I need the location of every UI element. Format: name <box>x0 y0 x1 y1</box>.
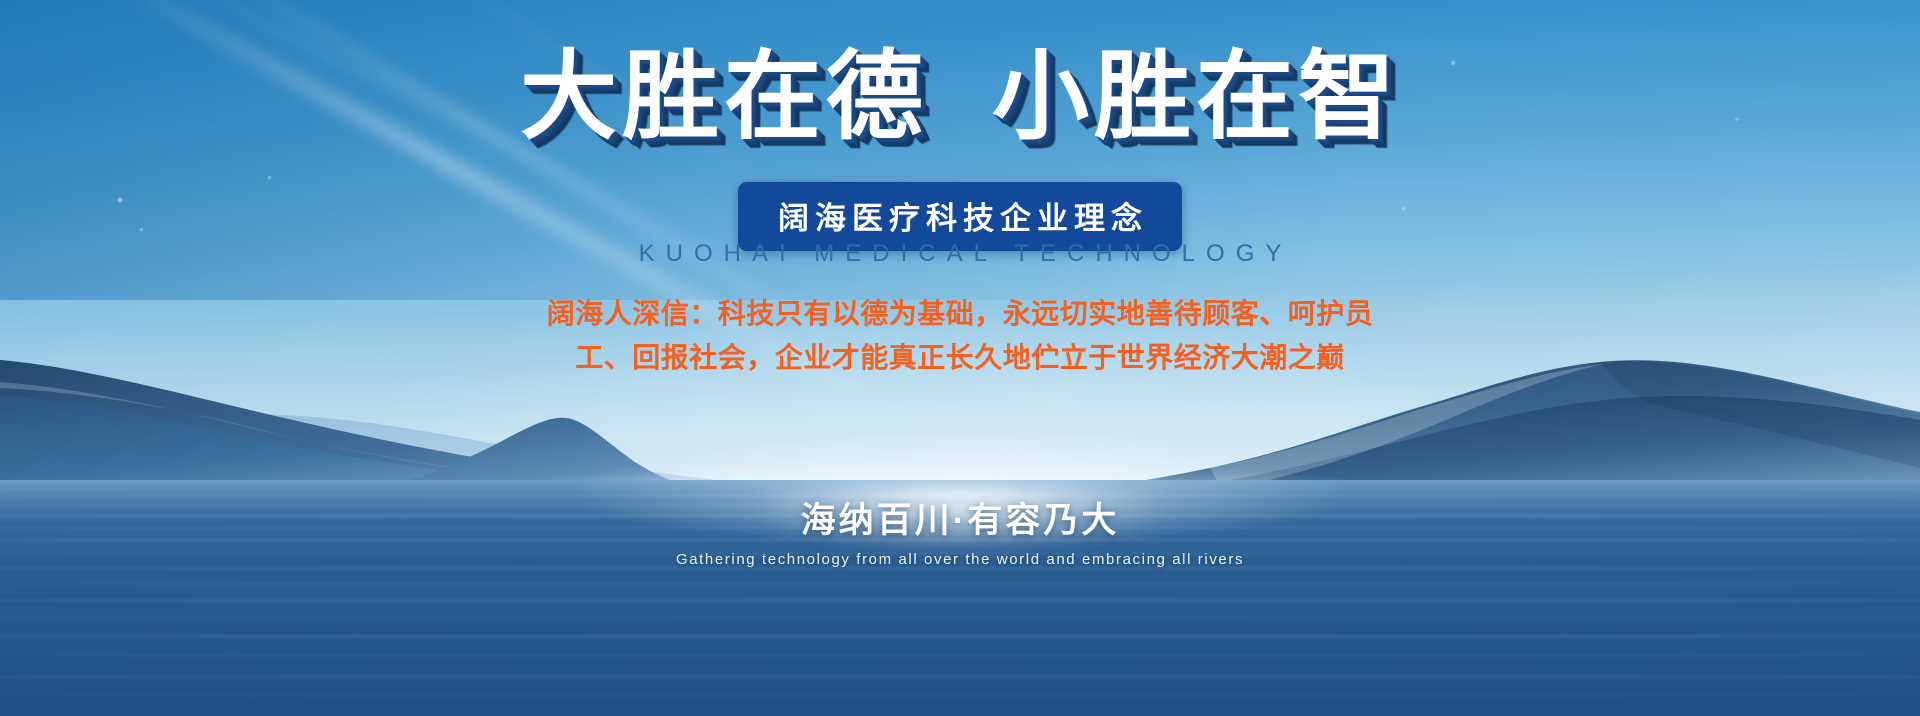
page-title: 大胜在德 小胜在智 <box>0 48 1920 145</box>
paragraph-line-1: 阔海人深信：科技只有以德为基础，永远切实地善待顾客、呵护员 <box>0 292 1920 336</box>
footer-slogan-en: Gathering technology from all over the w… <box>0 551 1920 568</box>
footer-slogan-cn: 海纳百川·有容乃大 <box>0 492 1920 543</box>
subtitle-english: KUOHAI MEDICAL TECHNOLOGY <box>0 240 1920 268</box>
paragraph-line-2: 工、回报社会，企业才能真正长久地伫立于世界经济大潮之巅 <box>0 336 1920 380</box>
footer-block: 海纳百川·有容乃大 Gathering technology from all … <box>0 492 1920 568</box>
philosophy-paragraph: 阔海人深信：科技只有以德为基础，永远切实地善待顾客、呵护员 工、回报社会，企业才… <box>0 292 1920 380</box>
hero-banner: 大胜在德 小胜在智 阔海医疗科技企业理念 KUOHAI MEDICAL TECH… <box>0 0 1920 716</box>
